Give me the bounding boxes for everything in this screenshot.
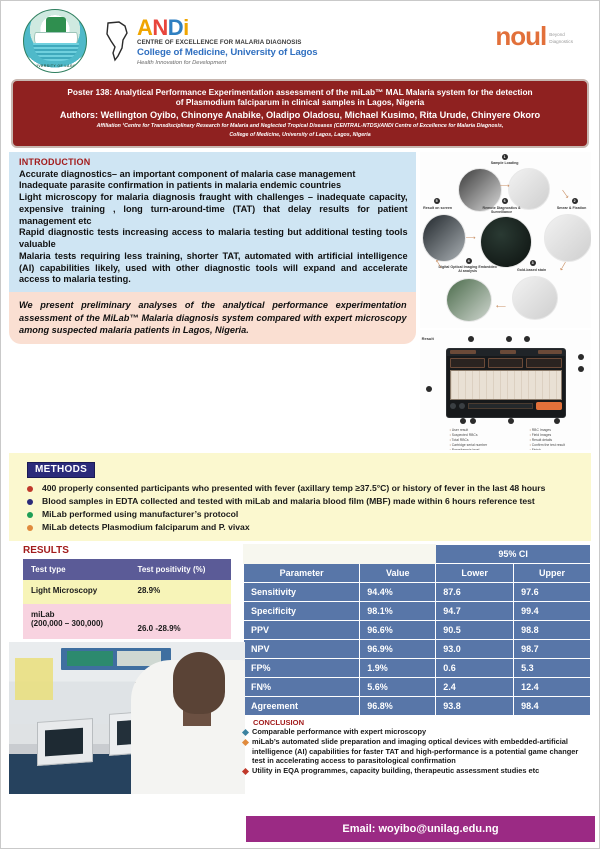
table-header-row: Test type Test positivity (%) [23, 559, 231, 580]
cell-upper: 98.7 [514, 640, 591, 659]
device-bottom-bar [447, 402, 565, 410]
methods-section: METHODS 400 properly consented participa… [9, 453, 591, 542]
table-group-header-row: 95% CI [244, 545, 591, 564]
andi-wordmark: ANDi [137, 18, 317, 39]
conclusion-section: CONCLUSION Comparable performance with e… [243, 718, 591, 776]
device-callout-marker [524, 336, 530, 342]
device-info-panel [450, 358, 485, 368]
device-callout-marker [506, 336, 512, 342]
column-header-test-type: Test type [23, 559, 130, 580]
andi-college-line: College of Medicine, University of Lagos [137, 47, 317, 58]
table-row: PPV 96.6% 90.5 98.8 [244, 621, 591, 640]
column-header-parameter: Parameter [244, 564, 360, 583]
workflow-step-label: Gold-based stain [502, 268, 562, 272]
cell-lower: 93.0 [436, 640, 514, 659]
device-legend-item: Parasitaemia level [450, 448, 510, 450]
methods-bullet-item: Blood samples in EDTA collected and test… [27, 496, 581, 507]
methods-bullet-item: MiLab detects Plasmodium falciparum and … [27, 522, 581, 533]
cell-parameter: Specificity [244, 602, 360, 621]
andi-centre-line: CENTRE OF EXCELLENCE FOR MALARIA DIAGNOS… [137, 39, 317, 46]
results-section: RESULTS Test type Test positivity (%) Li… [1, 541, 599, 794]
cell-upper: 99.4 [514, 602, 591, 621]
bullet-dot-icon [27, 486, 33, 492]
device-callout-marker [578, 354, 584, 360]
cell-parameter: FN% [244, 678, 360, 697]
device-topbar [447, 349, 565, 356]
workflow-photo-loading-hand [508, 168, 550, 210]
noul-tagline-line2: Diagnostics [549, 39, 573, 45]
lab-photo-operator-head [173, 652, 225, 714]
cell-value: 98.1% [360, 602, 436, 621]
lab-photo-device-screen [45, 728, 83, 757]
cell-parameter: Agreement [244, 697, 360, 716]
workflow-step-label: Smear & Fixation [542, 206, 591, 210]
device-topbar-chip [500, 350, 516, 354]
introduction-paragraph: Light microscopy for malaria diagnosis f… [19, 192, 408, 227]
device-callout-marker [554, 418, 560, 424]
cell-value: 94.4% [360, 583, 436, 602]
cell-value: 96.8% [360, 697, 436, 716]
poster-root: UNIVERSITY OF LAGOS ANDi CENTRE OF EXCEL… [0, 0, 600, 849]
workflow-step-number: 4 [466, 258, 472, 264]
device-info-panels [447, 356, 565, 368]
cell-upper: 12.4 [514, 678, 591, 697]
poster-authors: Authors: Wellington Oyibo, Chinonye Anab… [27, 110, 573, 121]
cell-upper: 98.4 [514, 697, 591, 716]
cell-parameter: NPV [244, 640, 360, 659]
lab-photo-shelf-box [67, 651, 113, 666]
cell-value: 96.6% [360, 621, 436, 640]
workflow-step-number: 5 [434, 198, 440, 204]
aim-text: We present preliminary analyses of the a… [19, 299, 407, 336]
device-screenshot [446, 348, 566, 418]
cell-positivity: 28.9% [130, 580, 231, 604]
introduction-section: INTRODUCTION Accurate diagnostics– an im… [9, 152, 416, 293]
results-heading: RESULTS [23, 545, 237, 556]
introduction-heading: INTRODUCTION [19, 157, 408, 167]
workflow-arrow-icon: ⟶ [466, 234, 476, 242]
cell-parameter: FP% [244, 659, 360, 678]
table-row: Specificity 98.1% 94.7 99.4 [244, 602, 591, 621]
intro-column: INTRODUCTION Accurate diagnostics– an im… [9, 152, 416, 450]
column-header-upper: Upper [514, 564, 591, 583]
poster-affiliation-line1: Affiliation ¹Centre for Transdisciplinar… [27, 123, 573, 130]
device-callout-marker [578, 366, 584, 372]
title-banner: Poster 138: Analytical Performance Exper… [11, 79, 589, 148]
methods-bullet-item: MiLab performed using manufacturer’s pro… [27, 509, 581, 520]
spacer-cell [360, 545, 436, 564]
poster-header: UNIVERSITY OF LAGOS ANDi CENTRE OF EXCEL… [1, 1, 599, 77]
cell-value: 1.9% [360, 659, 436, 678]
test-positivity-table: Test type Test positivity (%) Light Micr… [23, 559, 231, 639]
device-screen-title: Result [422, 336, 434, 341]
methods-bullet-text: Blood samples in EDTA collected and test… [42, 496, 535, 507]
table-row: Light Microscopy 28.9% [23, 580, 231, 604]
table-row: FP% 1.9% 0.6 5.3 [244, 659, 591, 678]
cell-upper: 97.6 [514, 583, 591, 602]
noul-tagline: Beyond Diagnostics [549, 32, 573, 48]
cell-upper: 98.8 [514, 621, 591, 640]
workflow-step-label: Remote Diagnostics & Surveillance [472, 206, 532, 215]
workflow-photo-smear-fixation [544, 214, 591, 262]
workflow-step-label: Digital Optical Imaging Embedded AI anal… [438, 265, 498, 274]
device-callout-marker [470, 418, 476, 424]
workflow-step-label: Sample Loading [475, 161, 535, 165]
workflow-step-label: Result on screen [420, 206, 468, 210]
workflow-arrow-icon: ⟶ [558, 187, 570, 200]
cell-test-type-name: miLab [31, 610, 122, 619]
column-header-value: Value [360, 564, 436, 583]
table-row: FN% 5.6% 2.4 12.4 [244, 678, 591, 697]
device-topbar-chip [538, 350, 562, 354]
performance-ci-table: 95% CI Parameter Value Lower Upper Sensi… [243, 544, 591, 716]
cell-lower: 93.8 [436, 697, 514, 716]
conclusion-heading: CONCLUSION [253, 718, 591, 727]
workflow-step-number: 1 [502, 154, 508, 160]
results-right-column: 95% CI Parameter Value Lower Upper Sensi… [243, 544, 591, 794]
device-field-grid[interactable] [450, 370, 562, 400]
methods-bullet-text: MiLab performed using manufacturer’s pro… [42, 509, 238, 520]
figures-column: 1 Sample Loading ⟶ 2 Smear & Fixation ⟶ … [420, 152, 591, 450]
workflow-photo-remote-diagnostics [480, 216, 532, 268]
andi-letter-n: N [152, 15, 167, 40]
conclusion-bullet-item: miLab’s automated slide preparation and … [243, 737, 591, 766]
poster-body: INTRODUCTION Accurate diagnostics– an im… [1, 148, 599, 450]
table-row: Sensitivity 94.4% 87.6 97.6 [244, 583, 591, 602]
device-legend-right: RBC Images Field Images Result details C… [530, 428, 591, 450]
noul-wordmark: noul [495, 25, 546, 48]
workflow-photo-optical-imaging [446, 278, 492, 322]
aim-section: We present preliminary analyses of the a… [9, 292, 416, 344]
cell-parameter: PPV [244, 621, 360, 640]
methods-bullet-text: 400 properly consented participants who … [42, 483, 545, 494]
unilag-crest-ring [27, 13, 83, 69]
cell-parameter: Sensitivity [244, 583, 360, 602]
unilag-logo-caption: UNIVERSITY OF LAGOS [24, 64, 86, 68]
poster-title-line1: Poster 138: Analytical Performance Exper… [27, 87, 573, 97]
workflow-step-number: 3 [530, 260, 536, 266]
cell-test-type: miLab (200,000 – 300,000) [23, 604, 130, 639]
cell-value: 5.6% [360, 678, 436, 697]
column-header-test-positivity: Test positivity (%) [130, 559, 231, 580]
cell-lower: 0.6 [436, 659, 514, 678]
cell-upper: 5.3 [514, 659, 591, 678]
introduction-paragraph: Inadequate parasite confirmation in pati… [19, 180, 408, 192]
device-info-panel [526, 358, 561, 368]
workflow-arrow-icon: ⟶ [496, 302, 506, 310]
bullet-dot-icon [27, 499, 33, 505]
bullet-dot-icon [27, 512, 33, 518]
table-header-row: Parameter Value Lower Upper [244, 564, 591, 583]
methods-heading: METHODS [27, 462, 95, 478]
device-icon-button[interactable] [450, 403, 456, 409]
methods-bullet-text: MiLab detects Plasmodium falciparum and … [42, 522, 250, 533]
device-callout-marker [468, 336, 474, 342]
table-row: Agreement 96.8% 93.8 98.4 [244, 697, 591, 716]
cell-test-type: Light Microscopy [23, 580, 130, 604]
device-callout-marker [426, 386, 432, 392]
device-status-field [468, 403, 533, 409]
introduction-paragraph: Rapid diagnostic tests increasing access… [19, 227, 408, 251]
andi-letter-a: A [137, 15, 152, 40]
device-callout-marker [460, 418, 466, 424]
noul-logo: noul Beyond Diagnostics [495, 25, 585, 56]
poster-affiliation-line2: College of Medicine, University of Lagos… [27, 132, 573, 139]
conclusion-bullet-text: miLab’s automated slide preparation and … [252, 737, 591, 766]
africa-map-icon [103, 20, 133, 62]
device-legend-item: Finish [530, 448, 591, 450]
workflow-arrow-icon: ⟶ [500, 182, 510, 190]
introduction-paragraph: Accurate diagnostics– an important compo… [19, 169, 408, 181]
conclusion-bullet-item: Utility in EQA programmes, capacity buil… [243, 766, 591, 776]
device-callout-marker [508, 418, 514, 424]
table-row: miLab (200,000 – 300,000) 26.0 -28.9% [23, 604, 231, 639]
table-row: NPV 96.9% 93.0 98.7 [244, 640, 591, 659]
andi-letter-i: i [183, 15, 189, 40]
device-screen-figure: Result [420, 330, 591, 450]
results-left-column: RESULTS Test type Test positivity (%) Li… [9, 544, 237, 794]
cell-positivity: 26.0 -28.9% [130, 604, 231, 639]
workflow-figure: 1 Sample Loading ⟶ 2 Smear & Fixation ⟶ … [420, 152, 591, 328]
spacer-cell [244, 545, 360, 564]
device-icon-button[interactable] [459, 403, 465, 409]
bullet-dot-icon [27, 525, 33, 531]
workflow-step-number: 2 [572, 198, 578, 204]
unilag-logo: UNIVERSITY OF LAGOS [23, 9, 87, 73]
conclusion-bullet-item: Comparable performance with expert micro… [243, 727, 591, 737]
introduction-paragraph: Malaria tests requiring less training, s… [19, 251, 408, 286]
column-header-lower: Lower [436, 564, 514, 583]
andi-logo: ANDi CENTRE OF EXCELLENCE FOR MALARIA DI… [103, 16, 317, 67]
andi-letter-d: D [168, 15, 183, 40]
contact-email-bar[interactable]: Email: woyibo@unilag.edu.ng [246, 816, 595, 842]
andi-tagline: Health Innovation for Development [137, 60, 317, 66]
methods-bullet-item: 400 properly consented participants who … [27, 483, 581, 494]
cell-lower: 87.6 [436, 583, 514, 602]
conclusion-bullet-text: Utility in EQA programmes, capacity buil… [252, 766, 539, 776]
device-legend-left: User result Suspected RBCs Total RBCs Ca… [450, 428, 510, 450]
workflow-photo-gold-stain [512, 276, 558, 320]
workflow-step-number: 6 [502, 198, 508, 204]
cell-test-type-range: (200,000 – 300,000) [31, 619, 122, 628]
poster-title-line2: of Plasmodium falciparum in clinical sam… [27, 97, 573, 107]
device-analyze-button[interactable] [536, 402, 562, 410]
lab-photo [9, 642, 245, 794]
cell-lower: 90.5 [436, 621, 514, 640]
cell-lower: 2.4 [436, 678, 514, 697]
conclusion-bullet-text: Comparable performance with expert micro… [252, 727, 426, 737]
cell-value: 96.9% [360, 640, 436, 659]
device-topbar-chip [450, 350, 476, 354]
workflow-photo-result-screen [422, 214, 466, 262]
lab-photo-milab-device [37, 718, 93, 766]
device-info-panel [488, 358, 523, 368]
lab-photo-reagent-bag [15, 658, 53, 700]
cell-lower: 94.7 [436, 602, 514, 621]
column-group-header-ci: 95% CI [436, 545, 591, 564]
